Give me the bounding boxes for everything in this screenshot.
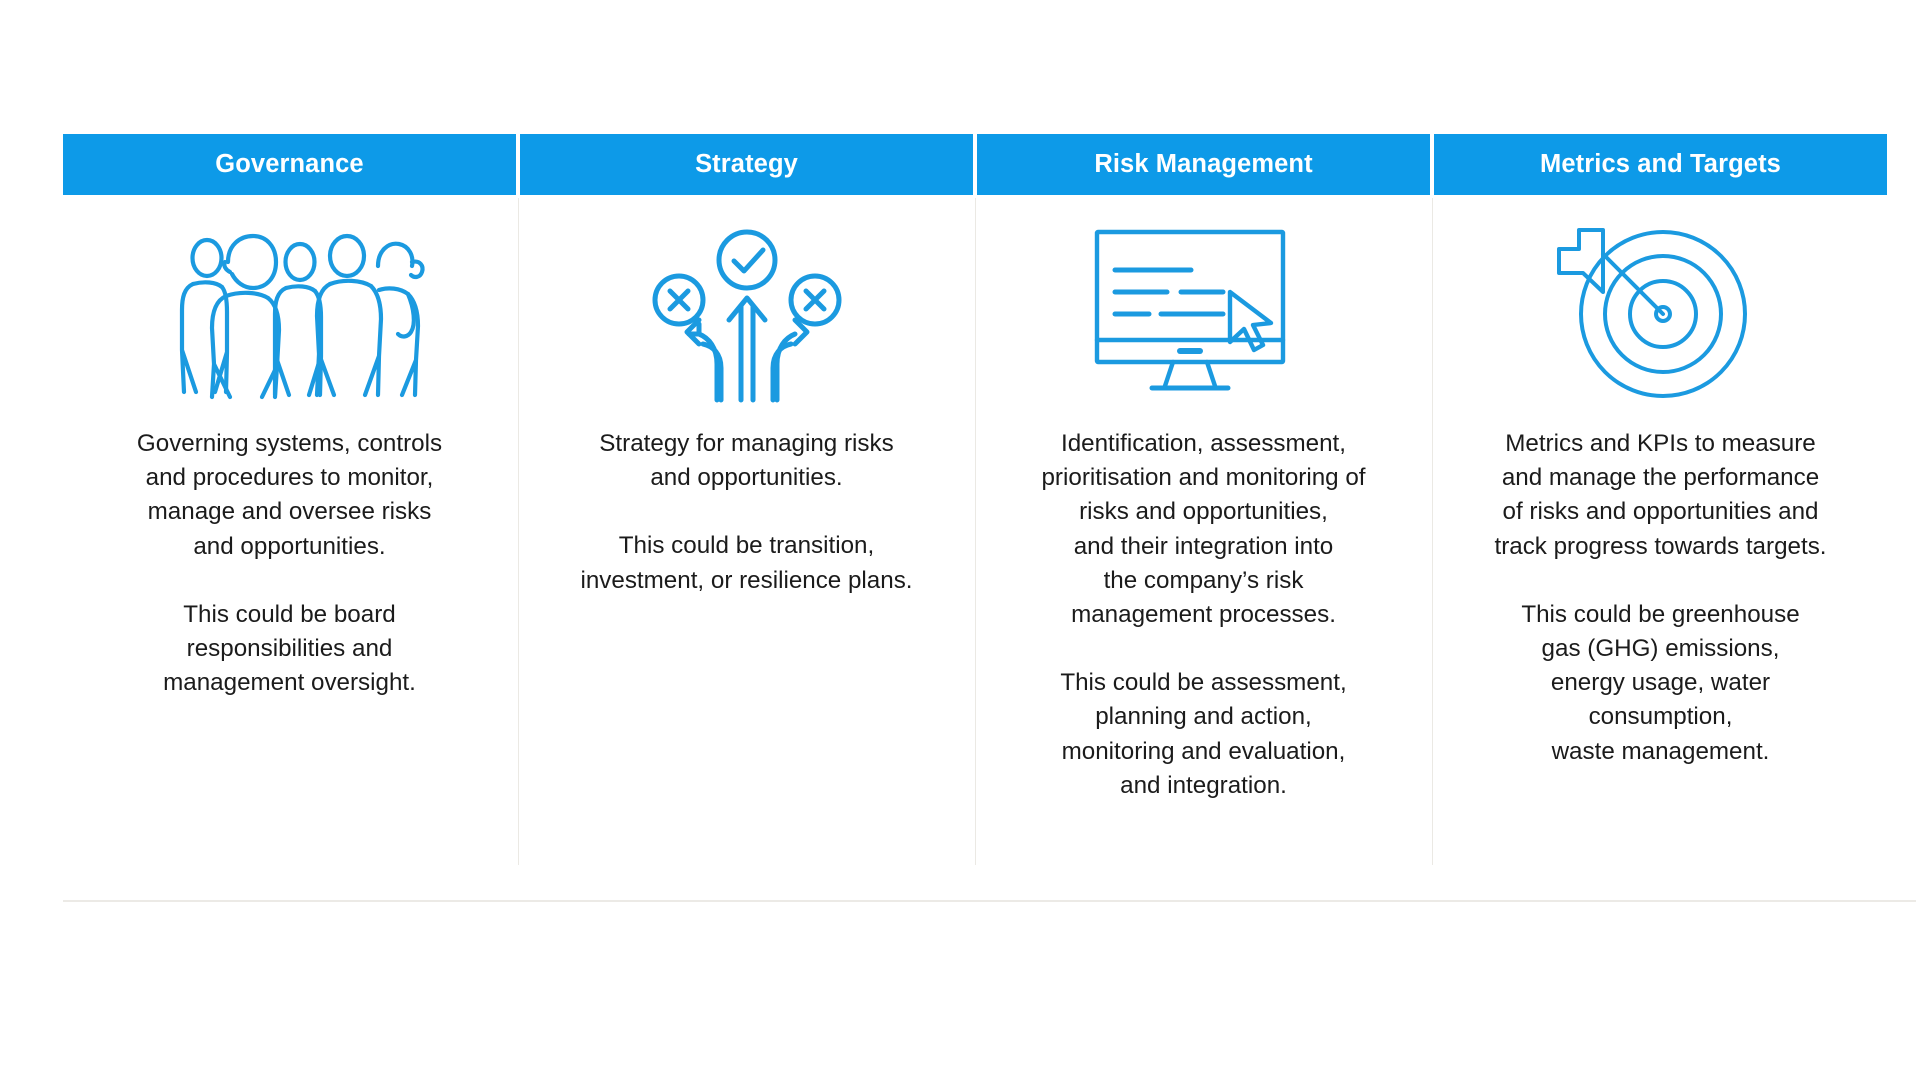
pillar-paragraph: This could be greenhouse gas (GHG) emiss… — [1450, 598, 1871, 769]
monitor-with-cursor-icon — [1095, 230, 1313, 398]
target-with-arrow-icon — [1559, 227, 1763, 402]
pillar-paragraph: This could be board responsibilities and… — [79, 598, 500, 701]
pillar-header-risk-management: Risk Management — [977, 134, 1430, 195]
branching-arrows-decision-icon — [647, 228, 847, 400]
pillar-icon-strategy — [520, 195, 973, 427]
pillar-column-governance: Governance — [63, 134, 516, 901]
pillar-paragraph: This could be transition, investment, or… — [536, 529, 957, 597]
pillar-paragraph: This could be assessment, planning and a… — [993, 666, 1414, 803]
pillar-paragraph: Identification, assessment, prioritisati… — [993, 427, 1414, 632]
pillar-paragraph: Strategy for managing risks and opportun… — [536, 427, 957, 495]
pillar-body-metrics-and-targets: Metrics and KPIs to measure and manage t… — [1434, 427, 1887, 901]
table-bottom-divider — [63, 900, 1916, 902]
pillar-table: Governance — [63, 134, 1916, 901]
pillar-icon-risk-management — [977, 195, 1430, 427]
pillar-body-risk-management: Identification, assessment, prioritisati… — [977, 427, 1430, 901]
pillar-column-risk-management: Risk Management — [977, 134, 1430, 901]
pillar-column-strategy: Strategy — [520, 134, 973, 901]
infographic-canvas: Governance — [0, 0, 1920, 1080]
pillar-header-strategy: Strategy — [520, 134, 973, 195]
pillar-header-governance: Governance — [63, 134, 516, 195]
pillar-icon-metrics-and-targets — [1434, 195, 1887, 427]
pillar-icon-governance — [63, 195, 516, 427]
pillar-body-strategy: Strategy for managing risks and opportun… — [520, 427, 973, 901]
pillar-paragraph: Governing systems, controls and procedur… — [79, 427, 500, 564]
group-of-people-icon — [182, 232, 397, 397]
pillar-paragraph: Metrics and KPIs to measure and manage t… — [1450, 427, 1871, 564]
pillar-header-metrics-and-targets: Metrics and Targets — [1434, 134, 1887, 195]
pillar-column-metrics-and-targets: Metrics and Targets — [1434, 134, 1887, 901]
pillar-body-governance: Governing systems, controls and procedur… — [63, 427, 516, 901]
